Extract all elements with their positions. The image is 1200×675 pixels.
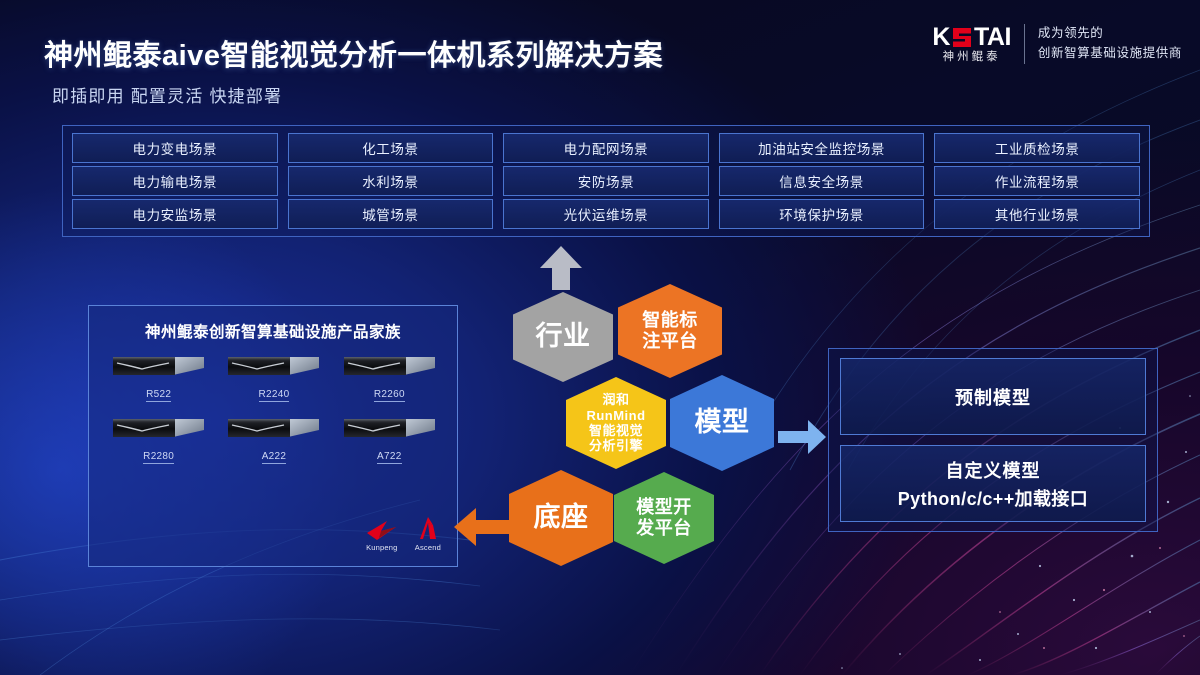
server-image <box>226 354 321 380</box>
scenario-cell[interactable]: 信息安全场景 <box>719 166 925 196</box>
hexagon-label: 行业 <box>513 292 613 382</box>
brand-logo-left: K TAI 神州鲲泰 <box>932 25 1010 64</box>
hexagon-label: 润和RunMind智能视觉分析引擎 <box>566 377 666 469</box>
hexagon-labeling[interactable]: 智能标注平台 <box>618 284 722 378</box>
scenario-cell[interactable]: 电力变电场景 <box>72 133 278 163</box>
scenario-cell[interactable]: 电力配网场景 <box>503 133 709 163</box>
scenario-cell[interactable]: 工业质检场景 <box>934 133 1140 163</box>
kunpeng-logo-icon <box>365 519 399 541</box>
preset-model-label: 预制模型 <box>955 384 1031 410</box>
brand-logo: K TAI 神州鲲泰 成为领先的 创新智算基础设施提供商 <box>932 24 1182 64</box>
product-label: R2240 <box>259 389 290 402</box>
scenario-cell[interactable]: 城管场景 <box>288 199 494 229</box>
product-family-title: 神州鲲泰创新智算基础设施产品家族 <box>89 320 457 342</box>
arrow-up-to-scenarios <box>536 246 586 290</box>
scenario-cell[interactable]: 光伏运维场景 <box>503 199 709 229</box>
hexagon-label: 模型开发平台 <box>614 472 714 564</box>
scenario-cell[interactable]: 电力安监场景 <box>72 199 278 229</box>
scenario-cell[interactable]: 其他行业场景 <box>934 199 1140 229</box>
partner-name: Kunpeng <box>366 543 397 552</box>
custom-model-label: 自定义模型 <box>946 457 1041 483</box>
scenario-row: 电力输电场景水利场景安防场景信息安全场景作业流程场景 <box>72 166 1140 196</box>
hexagon-label-line: 行业 <box>536 321 591 353</box>
scenario-cell[interactable]: 电力输电场景 <box>72 166 278 196</box>
product-label: R2280 <box>143 451 174 464</box>
hexagon-label-line: 智能视觉 <box>589 423 643 438</box>
hexagon-label: 智能标注平台 <box>618 284 722 378</box>
hexagon-label-line: 智能标 <box>642 310 698 331</box>
hexagon-engine[interactable]: 润和RunMind智能视觉分析引擎 <box>566 377 666 469</box>
server-image <box>342 354 437 380</box>
page-subtitle: 即插即用 配置灵活 快捷部署 <box>52 82 282 107</box>
product-label: R522 <box>146 389 171 402</box>
logo-divider <box>1024 24 1025 64</box>
product-label: R2260 <box>374 389 405 402</box>
arrow-right-to-models <box>778 420 826 454</box>
scenario-cell[interactable]: 环境保护场景 <box>719 199 925 229</box>
scenario-cell[interactable]: 安防场景 <box>503 166 709 196</box>
product-item[interactable]: R522 <box>101 354 216 402</box>
hexagon-label-line: 分析引擎 <box>589 438 643 453</box>
brand-tagline-line2: 创新智算基础设施提供商 <box>1038 46 1182 62</box>
scenario-cell[interactable]: 化工场景 <box>288 133 494 163</box>
brand-tagline: 成为领先的 创新智算基础设施提供商 <box>1038 26 1182 61</box>
scenario-cell[interactable]: 加油站安全监控场景 <box>719 133 925 163</box>
hexagon-label-line: 注平台 <box>642 331 698 352</box>
scenario-cell[interactable]: 水利场景 <box>288 166 494 196</box>
partner-name: Ascend <box>415 543 441 552</box>
arrow-left-to-products <box>454 508 514 546</box>
scenario-row: 电力安监场景城管场景光伏运维场景环境保护场景其他行业场景 <box>72 199 1140 229</box>
hexagon-label-line: RunMind <box>586 408 645 423</box>
server-image <box>111 416 206 442</box>
hexagon-label-line: 底座 <box>534 502 589 534</box>
hexagon-model[interactable]: 模型 <box>670 375 774 471</box>
product-family-panel: 神州鲲泰创新智算基础设施产品家族 R522R2240R2260R2280A222… <box>88 305 458 567</box>
header: 神州鲲泰aive智能视觉分析一体机系列解决方案 即插即用 配置灵活 快捷部署 K… <box>0 0 1200 120</box>
server-image <box>226 416 321 442</box>
partner-logos: KunpengAscend <box>365 517 441 552</box>
server-image <box>111 354 206 380</box>
partner-logo: Kunpeng <box>365 519 399 552</box>
product-item[interactable]: R2240 <box>216 354 331 402</box>
server-image <box>342 416 437 442</box>
hexagon-label-line: 模型 <box>695 407 750 439</box>
hexagon-industry[interactable]: 行业 <box>513 292 613 382</box>
custom-model-box: 自定义模型 Python/c/c++加载接口 <box>840 445 1146 522</box>
product-label: A222 <box>262 451 287 464</box>
page-title: 神州鲲泰aive智能视觉分析一体机系列解决方案 <box>44 32 663 74</box>
ascend-logo-icon <box>417 517 439 541</box>
product-item[interactable]: A722 <box>332 416 447 464</box>
scenario-cell[interactable]: 作业流程场景 <box>934 166 1140 196</box>
product-item[interactable]: A222 <box>216 416 331 464</box>
brand-wordmark: K TAI <box>932 25 1010 50</box>
product-label: A722 <box>377 451 402 464</box>
hexagon-devplatform[interactable]: 模型开发平台 <box>614 472 714 564</box>
hexagon-label-line: 发平台 <box>636 518 692 539</box>
hexagon-label-line: 模型开 <box>636 497 692 518</box>
hexagon-label: 模型 <box>670 375 774 471</box>
model-panel: 预制模型 自定义模型 Python/c/c++加载接口 <box>828 348 1158 532</box>
scenario-row: 电力变电场景化工场景电力配网场景加油站安全监控场景工业质检场景 <box>72 133 1140 163</box>
hexagon-base[interactable]: 底座 <box>509 470 613 566</box>
brand-tagline-line1: 成为领先的 <box>1038 26 1182 42</box>
scenario-panel: 电力变电场景化工场景电力配网场景加油站安全监控场景工业质检场景电力输电场景水利场… <box>62 125 1150 237</box>
partner-logo: Ascend <box>415 517 441 552</box>
brand-letters-tai: TAI <box>974 25 1011 50</box>
brand-cn-name: 神州鲲泰 <box>943 52 1001 64</box>
hexagon-label-line: 润和 <box>602 392 629 407</box>
custom-model-api-label: Python/c/c++加载接口 <box>898 485 1088 511</box>
preset-model-box: 预制模型 <box>840 358 1146 435</box>
product-item[interactable]: R2280 <box>101 416 216 464</box>
product-item[interactable]: R2260 <box>332 354 447 402</box>
product-grid: R522R2240R2260R2280A222A722 <box>101 354 447 464</box>
brand-letter-k: K <box>932 25 950 50</box>
kuntai-mark-icon <box>951 27 973 48</box>
hexagon-label: 底座 <box>509 470 613 566</box>
